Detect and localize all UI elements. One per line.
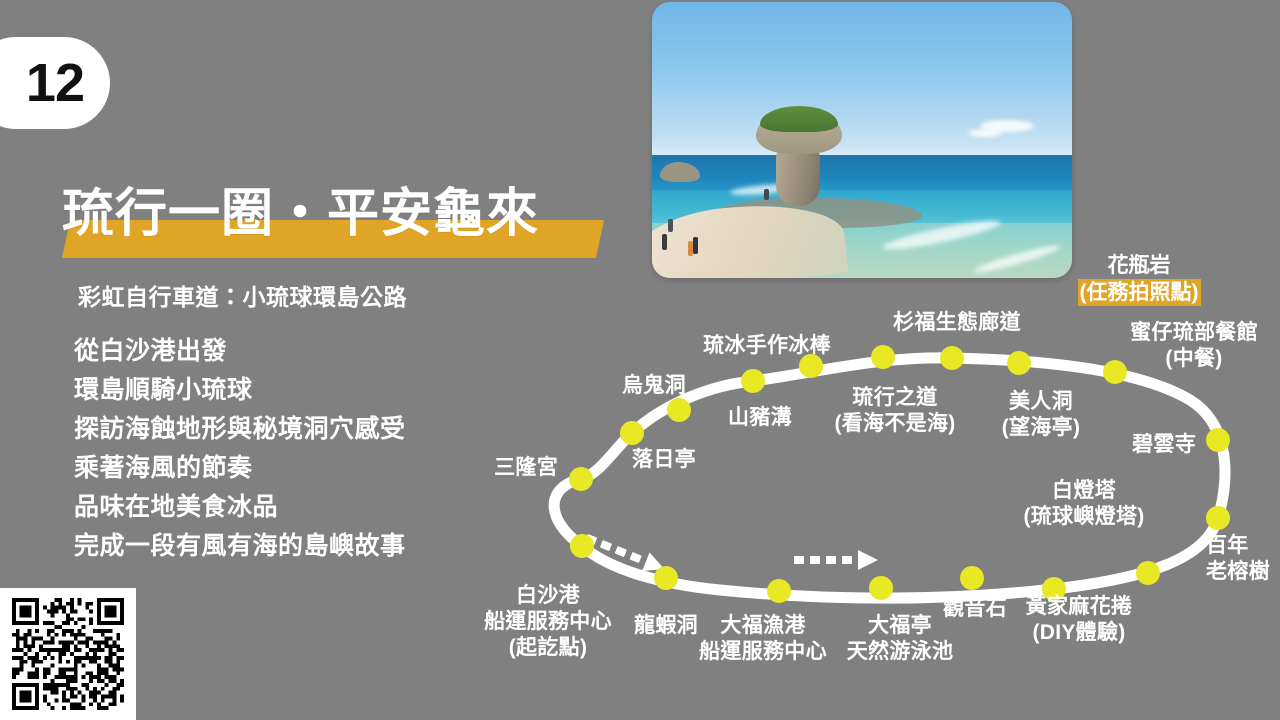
map-label-luori-pavilion: 落日亭 [632,447,696,473]
arrow-west-icon [583,528,668,578]
map-label-line: 白沙港 [484,583,612,609]
map-label-meiren-cave: 美人洞(望海亭) [1002,389,1081,441]
route-node-guanyin-rock[interactable] [960,566,984,590]
bullet-line: 乘著海風的節奏 [74,449,504,488]
map-label-line: (琉球嶼燈塔) [1023,504,1144,530]
map-label-line: 船運服務中心 [699,639,827,665]
map-label-dafu-pavilion: 大福亭天然游泳池 [847,613,954,665]
map-label-liubing-popsicle: 琉冰手作冰棒 [703,333,831,359]
map-label-line: (起訖點) [484,635,612,661]
route-node-luori-pavilion[interactable] [620,421,644,445]
route-node-sanlong-temple[interactable] [569,467,593,491]
map-label-line: 百年 [1206,533,1270,559]
route-node-longxia-cave[interactable] [654,566,678,590]
bullet-line: 完成一段有風有海的島嶼故事 [74,527,504,566]
map-label-line: (看海不是海) [834,411,955,437]
qr-code-box [0,588,136,720]
route-node-baisha-port[interactable] [570,534,594,558]
map-label-line: (中餐) [1130,346,1258,372]
route-node-shanzhugou[interactable] [741,369,765,393]
route-node-mizai-restaurant[interactable] [1103,360,1127,384]
route-node-white-lighthouse[interactable] [1136,561,1160,585]
route-node-liuxing-road[interactable] [871,345,895,369]
map-label-line: 船運服務中心 [484,609,612,635]
map-label-line: 美人洞 [1002,389,1081,415]
photo-person [764,189,769,200]
map-label-line: 大福亭 [847,613,954,639]
map-label-bainian-banyan: 百年老榕樹 [1206,533,1270,585]
photo-sky [652,2,1072,159]
map-label-mizai-restaurant: 蜜仔琉部餐館(中餐) [1130,320,1258,372]
map-label-line: 大福漁港 [699,613,827,639]
page-subtitle: 彩虹自行車道：小琉球環島公路 [78,278,407,312]
map-label-line: 老榕樹 [1206,559,1270,585]
map-label-line: 白燈塔 [1023,478,1144,504]
map-label-line: 琉冰手作冰棒 [703,333,831,359]
photo-caption-badge: (任務拍照點) [1078,279,1201,306]
map-label-biyun-temple: 碧雲寺 [1132,432,1196,458]
map-label-line: 龍蝦洞 [634,613,698,639]
bullet-line: 探訪海蝕地形與秘境洞穴感受 [74,410,504,449]
map-label-line: 烏鬼洞 [622,373,686,399]
map-label-wugui-cave: 烏鬼洞 [622,373,686,399]
map-label-baisha-port: 白沙港船運服務中心(起訖點) [484,583,612,661]
photo-person [662,234,667,250]
route-node-meiren-cave[interactable] [1007,351,1031,375]
map-label-line: (望海亭) [1002,415,1081,441]
route-node-dafu-fishport[interactable] [767,579,791,603]
map-label-line: 黃家麻花捲 [1026,594,1133,620]
bullet-list: 從白沙港出發環島順騎小琉球探訪海蝕地形與秘境洞穴感受乘著海風的節奏品味在地美食冰… [74,332,504,566]
route-node-biyun-temple[interactable] [1206,428,1230,452]
map-label-shanzhugou: 山豬溝 [728,405,792,431]
map-label-white-lighthouse: 白燈塔(琉球嶼燈塔) [1023,478,1144,530]
map-label-huangjia-twist: 黃家麻花捲(DIY體驗) [1026,594,1133,646]
map-label-line: 蜜仔琉部餐館 [1130,320,1258,346]
photo-sea-far [652,155,1072,194]
map-label-line: 落日亭 [632,447,696,473]
title-block: 琉行一圈・平安龜來 [62,186,539,258]
map-label-line: 碧雲寺 [1132,432,1196,458]
bullet-line: 環島順騎小琉球 [74,371,504,410]
photo-caption-title: 花瓶岩 [1014,252,1264,279]
map-label-longxia-cave: 龍蝦洞 [634,613,698,639]
route-node-shanfu-corridor[interactable] [940,346,964,370]
photo-caption: 花瓶岩 (任務拍照點) [1014,252,1264,306]
slide-canvas: 12 花瓶岩 (任務拍照點) 琉行一圈・平安龜來 彩虹自行車道：小琉球環島公路 … [0,0,1280,720]
map-label-line: 三隆宮 [494,455,558,481]
map-label-line: 杉福生態廊道 [893,310,1021,336]
map-label-line: 天然游泳池 [847,639,954,665]
page-number-badge: 12 [0,37,110,129]
photo-person [668,219,673,232]
bullet-line: 從白沙港出發 [74,332,504,371]
route-node-wugui-cave[interactable] [667,398,691,422]
map-label-line: 山豬溝 [728,405,792,431]
arrow-south-icon [794,550,878,570]
page-title: 琉行一圈・平安龜來 [62,186,539,242]
map-label-sanlong-temple: 三隆宮 [494,455,558,481]
route-node-bainian-banyan[interactable] [1206,506,1230,530]
page-number: 12 [26,56,84,110]
photo-cloud [968,129,1002,137]
photo-person [693,237,698,254]
map-label-line: (DIY體驗) [1026,620,1133,646]
map-label-line: 琉行之道 [834,385,955,411]
qr-code-icon[interactable] [12,598,124,710]
map-label-dafu-fishport: 大福漁港船運服務中心 [699,613,827,665]
map-label-shanfu-corridor: 杉福生態廊道 [893,310,1021,336]
vase-rock-photo [652,2,1072,278]
map-label-liuxing-road: 琉行之道(看海不是海) [834,385,955,437]
bullet-line: 品味在地美食冰品 [74,488,504,527]
route-node-dafu-pavilion[interactable] [869,576,893,600]
